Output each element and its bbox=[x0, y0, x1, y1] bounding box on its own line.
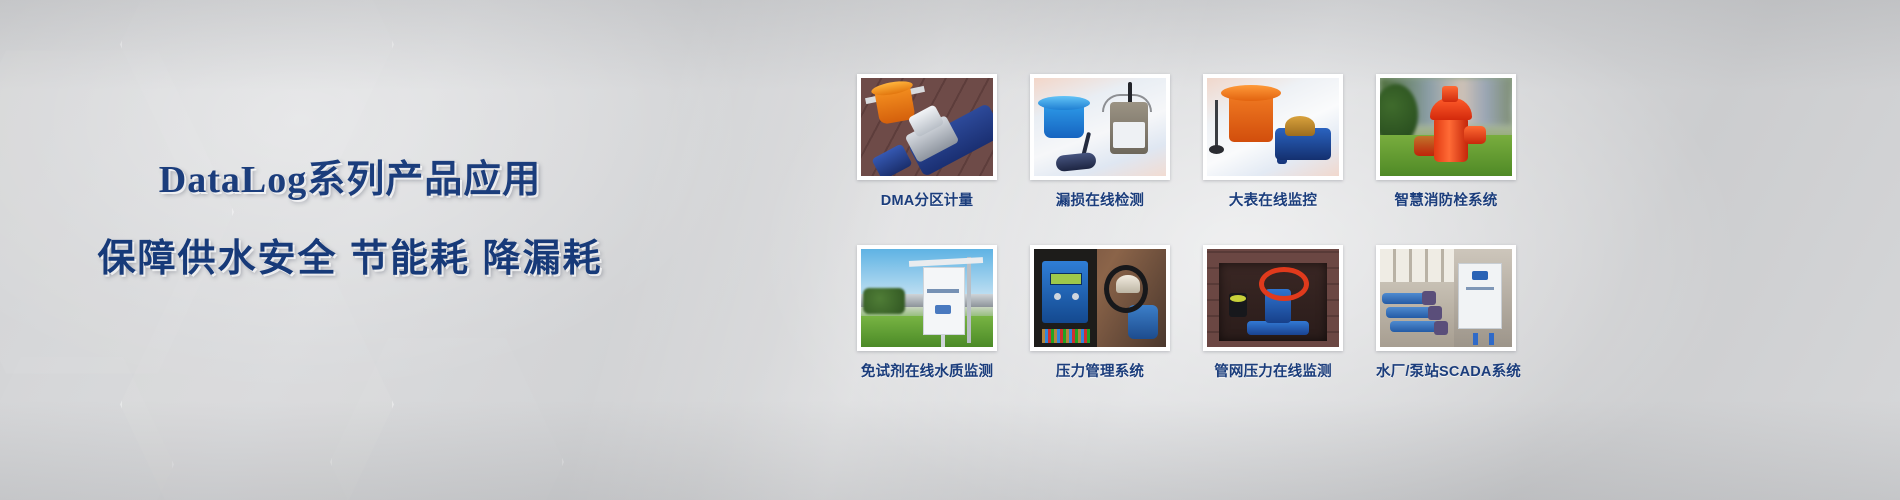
product-card-scada[interactable]: 水厂/泵站SCADA系统 bbox=[1376, 245, 1516, 381]
product-card-network-pressure[interactable]: 管网压力在线监测 bbox=[1203, 245, 1343, 381]
product-thumbnail[interactable] bbox=[857, 74, 997, 180]
banner-headline: DataLog系列产品应用 保障供水安全 节能耗 降漏耗 bbox=[0, 148, 700, 282]
headline-line-2: 保障供水安全 节能耗 降漏耗 bbox=[0, 227, 700, 282]
product-thumbnail[interactable] bbox=[1030, 74, 1170, 180]
hexagon-shape bbox=[120, 250, 394, 500]
product-caption: 智慧消防栓系统 bbox=[1376, 189, 1516, 210]
product-card-leak-detection[interactable]: 漏损在线检测 bbox=[1030, 74, 1170, 210]
product-banner: DataLog系列产品应用 保障供水安全 节能耗 降漏耗 DMA分区计量 bbox=[0, 0, 1900, 500]
scada-pump-station-photo bbox=[1380, 249, 1512, 347]
product-thumbnail[interactable] bbox=[1203, 245, 1343, 351]
water-quality-station-photo bbox=[861, 249, 993, 347]
product-row-2: 免试剂在线水质监测 压力管理系统 bbox=[857, 245, 1577, 381]
product-thumbnail[interactable] bbox=[1203, 74, 1343, 180]
product-row-1: DMA分区计量 漏损在线检测 大表在线监控 bbox=[857, 74, 1577, 210]
product-card-large-meter[interactable]: 大表在线监控 bbox=[1203, 74, 1343, 210]
product-card-water-quality[interactable]: 免试剂在线水质监测 bbox=[857, 245, 997, 381]
fire-hydrant-photo bbox=[1380, 78, 1512, 176]
large-meter-photo bbox=[1207, 78, 1339, 176]
product-card-pressure-management[interactable]: 压力管理系统 bbox=[1030, 245, 1170, 381]
headline-line-1: DataLog系列产品应用 bbox=[0, 148, 700, 203]
product-thumbnail[interactable] bbox=[1030, 245, 1170, 351]
product-caption: 管网压力在线监测 bbox=[1203, 360, 1343, 381]
product-caption: 压力管理系统 bbox=[1030, 360, 1170, 381]
product-caption: 大表在线监控 bbox=[1203, 189, 1343, 210]
product-caption: DMA分区计量 bbox=[857, 189, 997, 210]
product-card-smart-hydrant[interactable]: 智慧消防栓系统 bbox=[1376, 74, 1516, 210]
product-thumbnail[interactable] bbox=[1376, 245, 1516, 351]
leak-detection-photo bbox=[1034, 78, 1166, 176]
product-caption: 漏损在线检测 bbox=[1030, 189, 1170, 210]
product-caption: 水厂/泵站SCADA系统 bbox=[1376, 360, 1516, 381]
network-pressure-photo bbox=[1207, 249, 1339, 347]
hexagon-shape bbox=[0, 350, 174, 500]
product-grid: DMA分区计量 漏损在线检测 大表在线监控 bbox=[857, 74, 1577, 381]
product-thumbnail[interactable] bbox=[857, 245, 997, 351]
product-thumbnail[interactable] bbox=[1376, 74, 1516, 180]
dma-metering-photo bbox=[861, 78, 993, 176]
hexagon-shape bbox=[330, 330, 564, 500]
pressure-management-photo bbox=[1034, 249, 1166, 347]
product-caption: 免试剂在线水质监测 bbox=[857, 360, 997, 381]
product-card-dma[interactable]: DMA分区计量 bbox=[857, 74, 997, 210]
